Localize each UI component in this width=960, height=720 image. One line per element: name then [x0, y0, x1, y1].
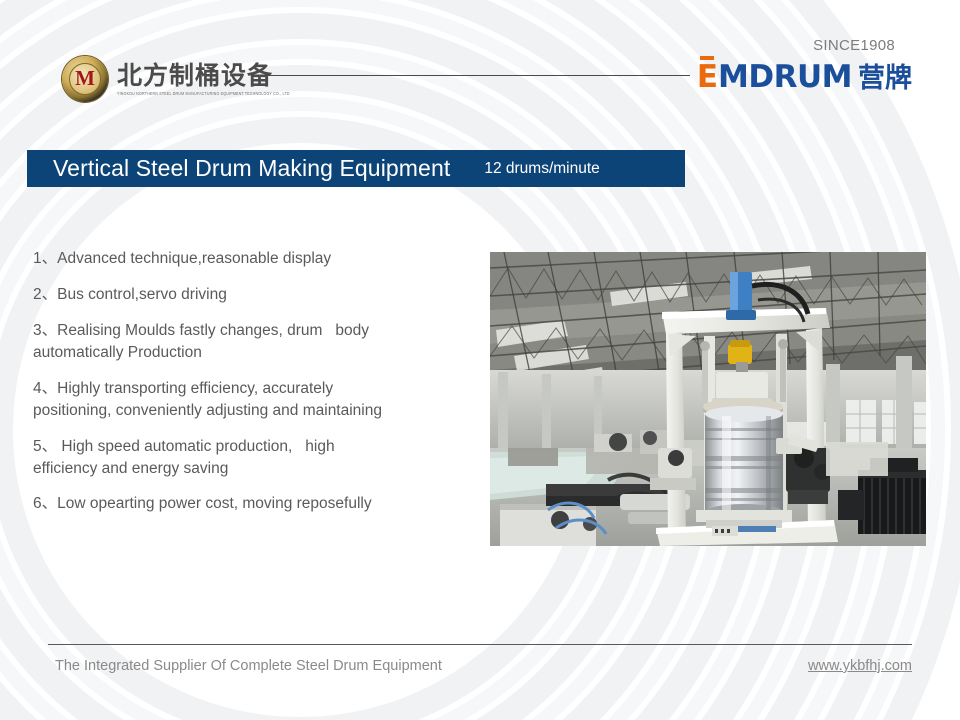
list-item: 5、 High speed automatic production, high… [33, 436, 483, 480]
slide-title-bar: Vertical Steel Drum Making Equipment 12 … [27, 150, 685, 187]
company-name-en: YINGKOU NORTHERN STEEL DRUM MANUFACTURIN… [117, 91, 290, 96]
page-title: Vertical Steel Drum Making Equipment [53, 155, 450, 182]
since-label: SINCE1908 [813, 37, 895, 54]
footer-divider-line [48, 644, 912, 645]
feature-list: 1、Advanced technique,reasonable display … [33, 248, 483, 529]
header-divider-line [253, 75, 690, 76]
logo-emblem-icon: M [62, 56, 108, 102]
footer-website-link[interactable]: www.ykbfhj.com [808, 658, 912, 674]
brand-logo-emdrum: E MDRUM 营牌 [697, 62, 912, 93]
emblem-letter: M [62, 56, 108, 102]
brand-letter-e: E [697, 62, 718, 93]
brand-name-cn: 营牌 [858, 65, 912, 92]
equipment-photo [490, 252, 926, 546]
list-item: 6、Low opearting power cost, moving repos… [33, 493, 483, 515]
brand-letters-mdrum: MDRUM [718, 62, 852, 93]
list-item: 2、Bus control,servo driving [33, 284, 483, 306]
company-logo-text: 北方制桶设备 YINGKOU NORTHERN STEEL DRUM MANUF… [117, 63, 290, 95]
list-item: 3、Realising Moulds fastly changes, drum … [33, 320, 483, 364]
company-logo-chinese: M 北方制桶设备 YINGKOU NORTHERN STEEL DRUM MAN… [62, 56, 290, 102]
list-item: 4、Highly transporting efficiency, accura… [33, 378, 483, 422]
list-item: 1、Advanced technique,reasonable display [33, 248, 483, 270]
slide-header: M 北方制桶设备 YINGKOU NORTHERN STEEL DRUM MAN… [0, 0, 960, 120]
production-rate-badge: 12 drums/minute [484, 160, 599, 178]
slide-canvas: M 北方制桶设备 YINGKOU NORTHERN STEEL DRUM MAN… [0, 0, 960, 720]
company-name-cn: 北方制桶设备 [117, 63, 290, 89]
footer-tagline: The Integrated Supplier Of Complete Stee… [55, 658, 442, 674]
